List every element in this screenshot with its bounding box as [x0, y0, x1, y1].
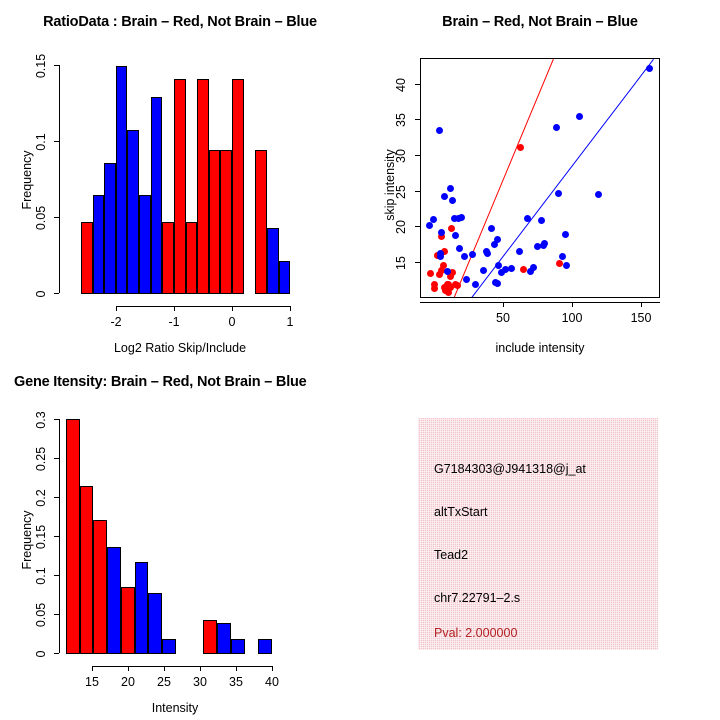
histogram-bar-not-brain — [148, 593, 162, 654]
scatter-plot-box — [420, 58, 660, 298]
r-graphics-device: RatioData : Brain – Red, Not Brain – Blu… — [0, 0, 720, 720]
scatter-point-not-brain — [494, 236, 501, 243]
gene-symbol-text: Tead2 — [434, 548, 468, 562]
scatter-point-not-brain — [461, 253, 468, 260]
scatter-point-not-brain — [484, 250, 491, 257]
scatter-point-brain — [427, 270, 434, 277]
scatter-point-not-brain — [555, 190, 562, 197]
scatter-point-not-brain — [508, 265, 515, 272]
histogram-bar-not-brain — [258, 639, 272, 654]
ratio-bars-area — [0, 0, 360, 360]
histogram-bar-not-brain — [93, 195, 105, 294]
scatter-panel-title: Brain – Red, Not Brain – Blue — [360, 14, 720, 30]
scatter-point-not-brain — [463, 276, 470, 283]
histogram-bar-not-brain — [162, 639, 176, 654]
scatter-point-brain — [520, 266, 527, 273]
scatter-point-not-brain — [559, 253, 566, 260]
histogram-bar-not-brain — [135, 562, 149, 654]
coordinate-text: chr7.22791–2.s — [434, 591, 520, 605]
histogram-bar-not-brain — [107, 547, 121, 654]
scatter-point-not-brain — [576, 113, 583, 120]
scatter-y-label-40: 40 — [394, 70, 408, 100]
histogram-bar-not-brain — [267, 228, 279, 294]
scatter-point-not-brain — [430, 216, 437, 223]
histogram-bar-brain — [186, 222, 198, 294]
scatter-y-tick-35 — [415, 119, 420, 120]
scatter-x-tick-50 — [503, 302, 504, 307]
scatter-point-not-brain — [426, 222, 433, 229]
scatter-y-tick-40 — [415, 84, 420, 85]
scatter-y-axis-title: skip intensity — [383, 143, 397, 227]
scatter-point-not-brain — [541, 240, 548, 247]
scatter-point-not-brain — [469, 251, 476, 258]
pval-text: Pval: 2.000000 — [434, 626, 517, 640]
histogram-bar-not-brain — [116, 66, 128, 294]
histogram-bar-brain — [255, 150, 267, 294]
histogram-bar-brain — [197, 79, 209, 294]
scatter-point-not-brain — [494, 280, 501, 287]
scatter-point-brain — [448, 225, 455, 232]
scatter-point-not-brain — [516, 248, 523, 255]
histogram-bar-not-brain — [217, 623, 231, 654]
histogram-bar-not-brain — [139, 195, 151, 294]
scatter-y-tick-25 — [415, 191, 420, 192]
scatter-x-label-150: 150 — [624, 311, 658, 325]
scatter-point-not-brain — [472, 281, 479, 288]
scatter-y-tick-30 — [415, 155, 420, 156]
panel-ratio-histogram: RatioData : Brain – Red, Not Brain – Blu… — [0, 0, 360, 360]
histogram-bar-not-brain — [279, 261, 291, 294]
scatter-point-not-brain — [595, 191, 602, 198]
scatter-x-axis-line — [420, 302, 660, 303]
annotation-box: G7184303@J941318@j_at altTxStart Tead2 c… — [418, 418, 658, 650]
scatter-x-tick-100 — [572, 302, 573, 307]
scatter-point-not-brain — [458, 214, 465, 221]
scatter-point-not-brain — [563, 262, 570, 269]
scatter-point-not-brain — [436, 127, 443, 134]
scatter-point-brain — [454, 282, 461, 289]
scatter-point-not-brain — [441, 193, 448, 200]
scatter-y-tick-15 — [415, 262, 420, 263]
histogram-bar-not-brain — [151, 97, 163, 294]
histogram-bar-brain — [209, 150, 221, 294]
scatter-fit-line — [453, 59, 554, 298]
probe-id-text: G7184303@J941318@j_at — [434, 462, 586, 476]
histogram-bar-not-brain — [104, 163, 116, 294]
histogram-bar-brain — [162, 222, 174, 294]
histogram-bar-brain — [66, 419, 80, 654]
scatter-point-not-brain — [447, 185, 454, 192]
scatter-point-brain — [517, 144, 524, 151]
panel-annotation-info: G7184303@J941318@j_at altTxStart Tead2 c… — [360, 360, 720, 720]
histogram-bar-brain — [220, 150, 232, 294]
event-type-text: altTxStart — [434, 505, 488, 519]
histogram-bar-brain — [232, 79, 244, 294]
scatter-point-brain — [431, 285, 438, 292]
histogram-bar-brain — [174, 79, 186, 294]
scatter-y-tick-20 — [415, 226, 420, 227]
histogram-bar-brain — [121, 587, 135, 654]
scatter-y-label-15: 15 — [394, 248, 408, 278]
scatter-point-brain — [556, 260, 563, 267]
panel-gene-intensity-histogram: Gene Itensity: Brain – Red, Not Brain – … — [0, 360, 360, 720]
scatter-point-not-brain — [646, 65, 653, 72]
scatter-x-axis-title: include intensity — [450, 341, 630, 355]
histogram-bar-not-brain — [231, 639, 245, 654]
scatter-x-label-50: 50 — [486, 311, 520, 325]
scatter-point-not-brain — [449, 197, 456, 204]
scatter-y-label-35: 35 — [394, 105, 408, 135]
histogram-bar-brain — [81, 222, 93, 294]
scatter-point-not-brain — [444, 268, 451, 275]
scatter-point-not-brain — [562, 231, 569, 238]
histogram-bar-brain — [80, 486, 94, 654]
panel-intensity-scatter: Brain – Red, Not Brain – Blue 40 35 30 2… — [360, 0, 720, 360]
gene-bars-area — [0, 360, 360, 720]
scatter-x-label-100: 100 — [555, 311, 589, 325]
histogram-bar-brain — [203, 620, 217, 654]
scatter-point-not-brain — [530, 264, 537, 271]
scatter-point-not-brain — [553, 124, 560, 131]
scatter-point-not-brain — [538, 217, 545, 224]
scatter-x-tick-150 — [641, 302, 642, 307]
histogram-bar-not-brain — [127, 130, 139, 294]
scatter-point-not-brain — [456, 245, 463, 252]
scatter-point-not-brain — [437, 253, 444, 260]
scatter-point-not-brain — [452, 232, 459, 239]
scatter-point-not-brain — [480, 267, 487, 274]
scatter-point-not-brain — [488, 225, 495, 232]
histogram-bar-brain — [93, 520, 107, 654]
